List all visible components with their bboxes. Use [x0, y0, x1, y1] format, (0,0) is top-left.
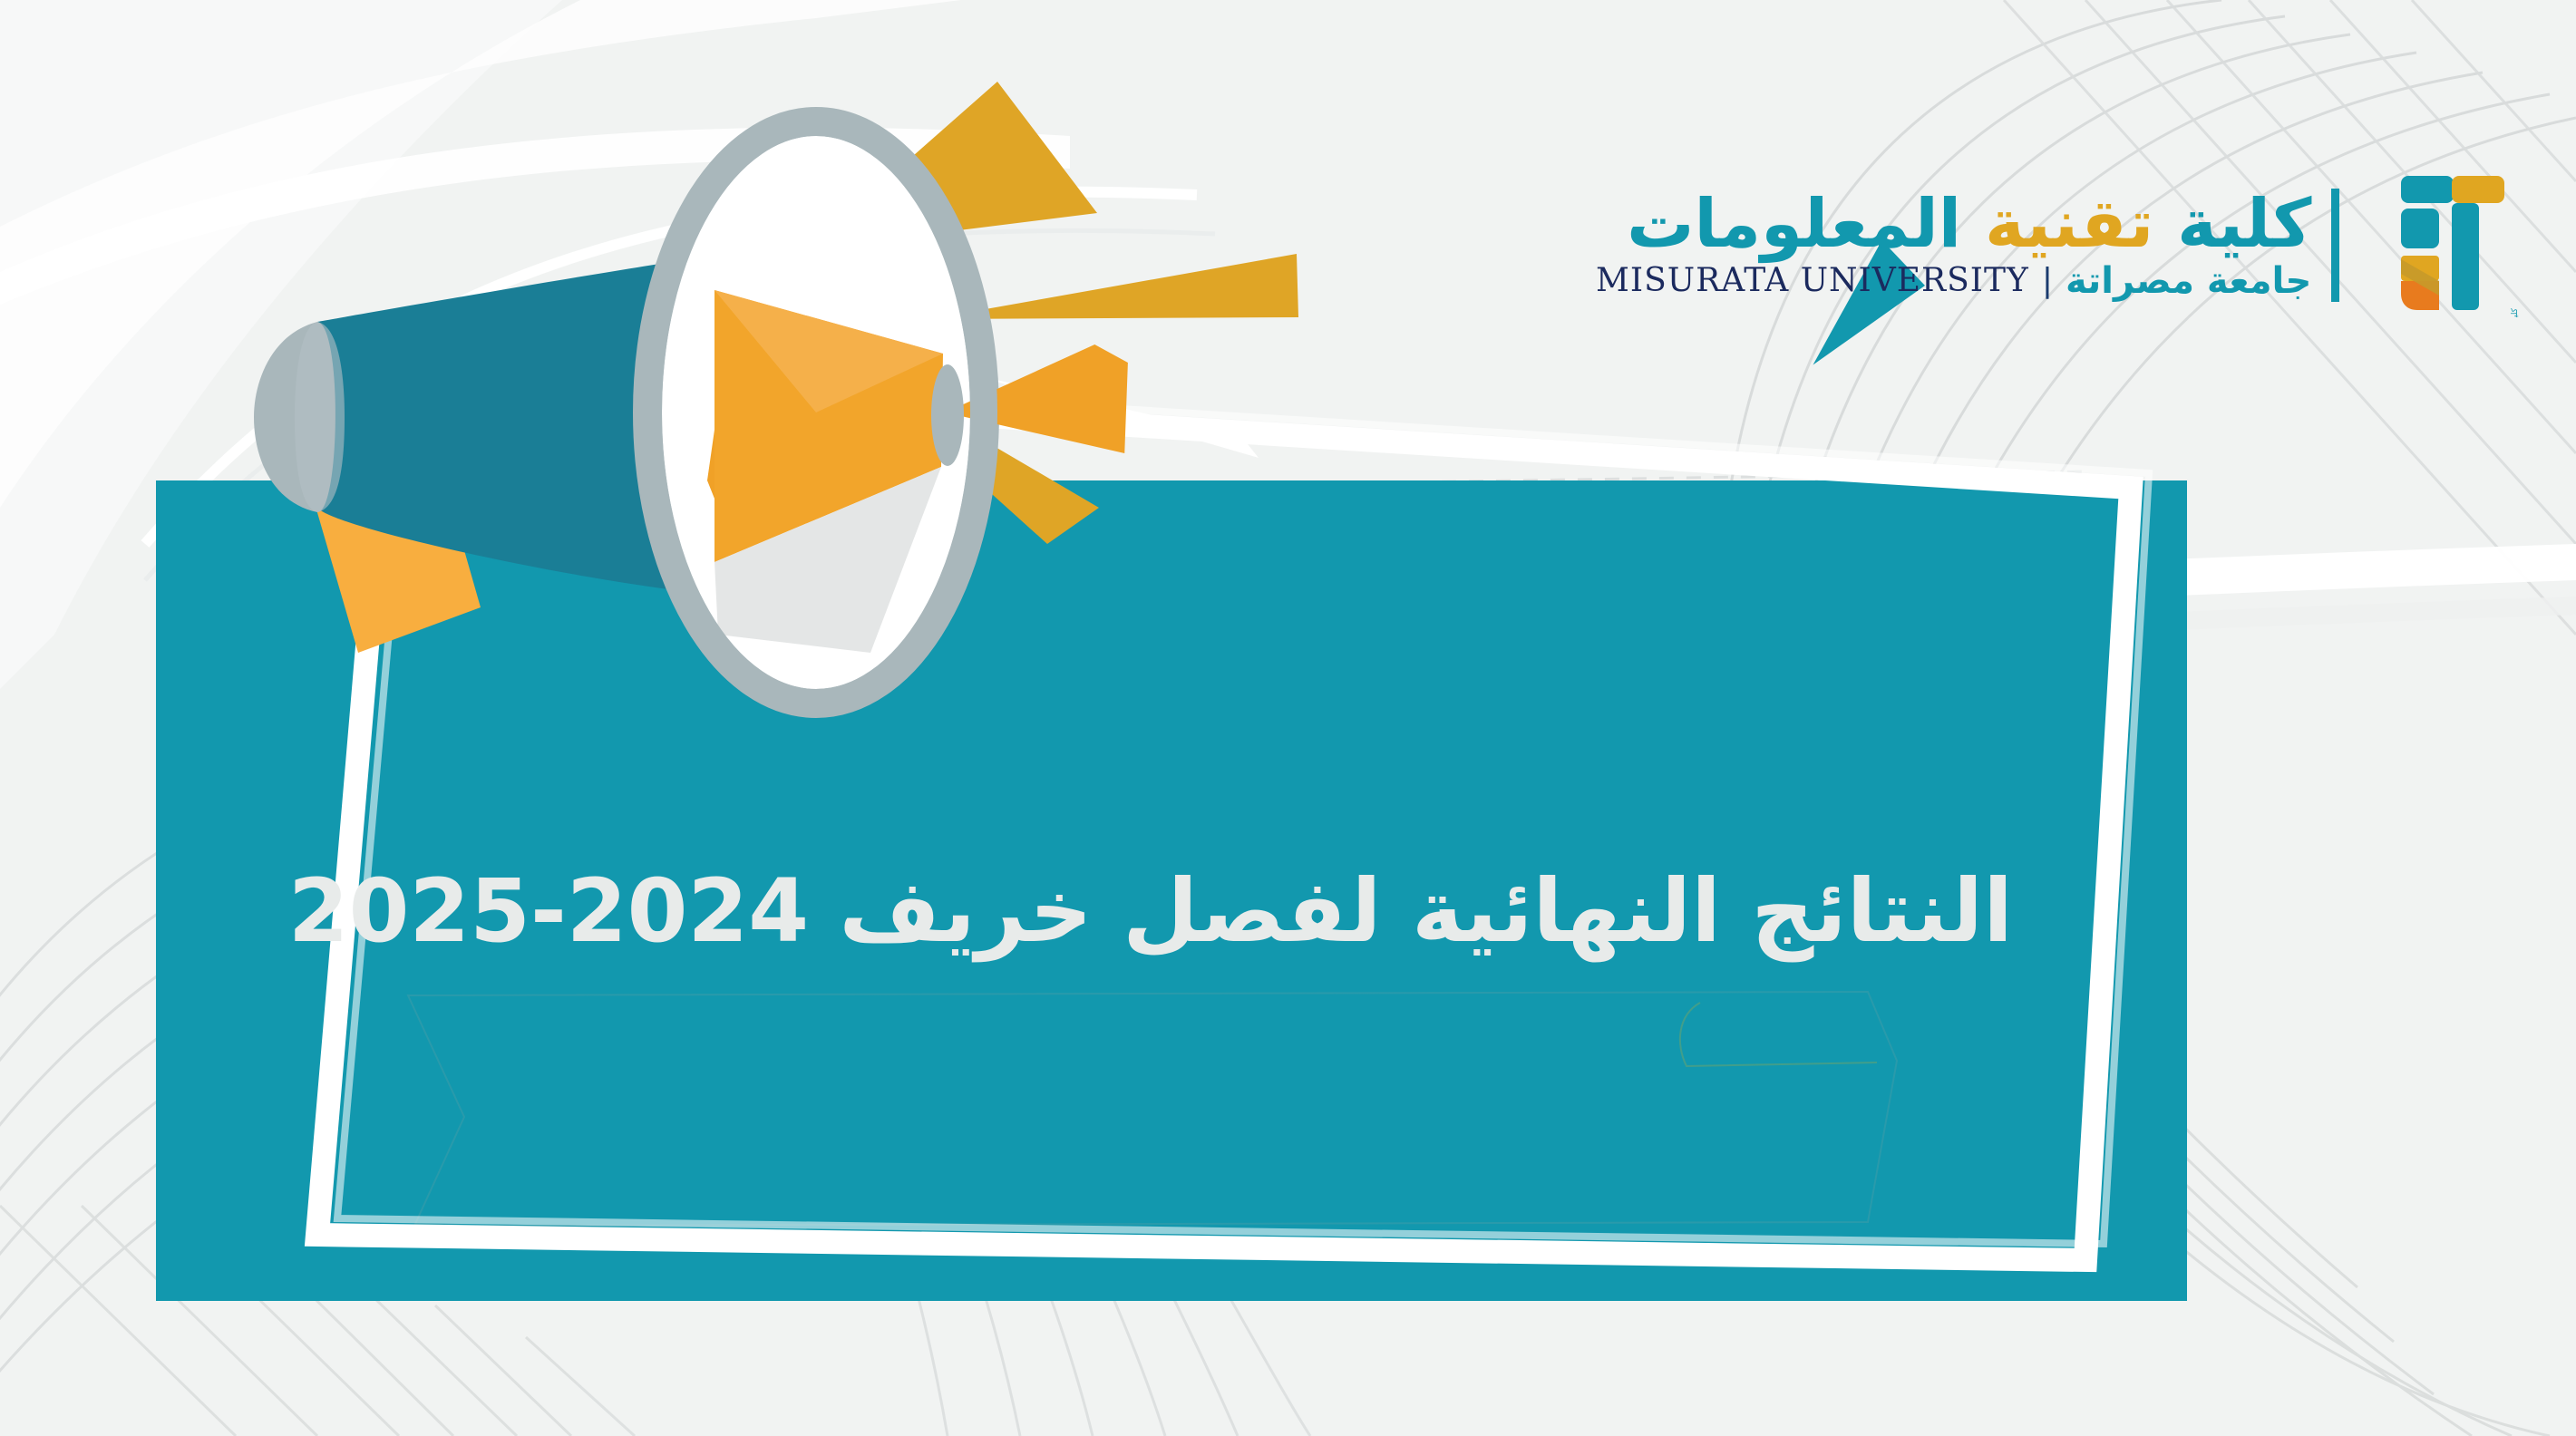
logo-name-part-1: كلية: [2177, 185, 2311, 263]
megaphone-throat: [931, 364, 964, 466]
college-logo[interactable]: كلية تقنية المعلومات كلية تقنية المعلوما…: [1596, 163, 2503, 326]
banner-canvas: النتائج النهائية لفصل خريف 2024-2025: [0, 0, 2576, 1436]
logo-wordmark: كلية تقنية المعلومات جامعة مصراتة | MISU…: [1596, 190, 2311, 299]
logo-mark-vertical-caption: كلية تقنية المعلومات: [2511, 307, 2520, 317]
logo-arabic-name: كلية تقنية المعلومات: [1596, 190, 2311, 257]
svg-text:كلية تقنية المعلومات: كلية تقنية المعلومات: [2511, 307, 2520, 317]
logo-name-part-2: تقنية: [1985, 185, 2153, 263]
page-title: النتائج النهائية لفصل خريف 2024-2025: [0, 861, 2013, 961]
logo-separator: |: [2042, 265, 2053, 297]
logo-name-part-3: المعلومات: [1627, 185, 1961, 263]
it-monogram-icon: كلية تقنية المعلومات: [2365, 172, 2523, 317]
megaphone-illustration: [181, 54, 1541, 798]
logo-university-english: MISURATA UNIVERSITY: [1596, 265, 2029, 297]
logo-university-arabic: جامعة مصراتة: [2066, 263, 2311, 299]
megaphone-back-cap-inner: [295, 322, 345, 512]
logo-divider: [2331, 189, 2339, 302]
